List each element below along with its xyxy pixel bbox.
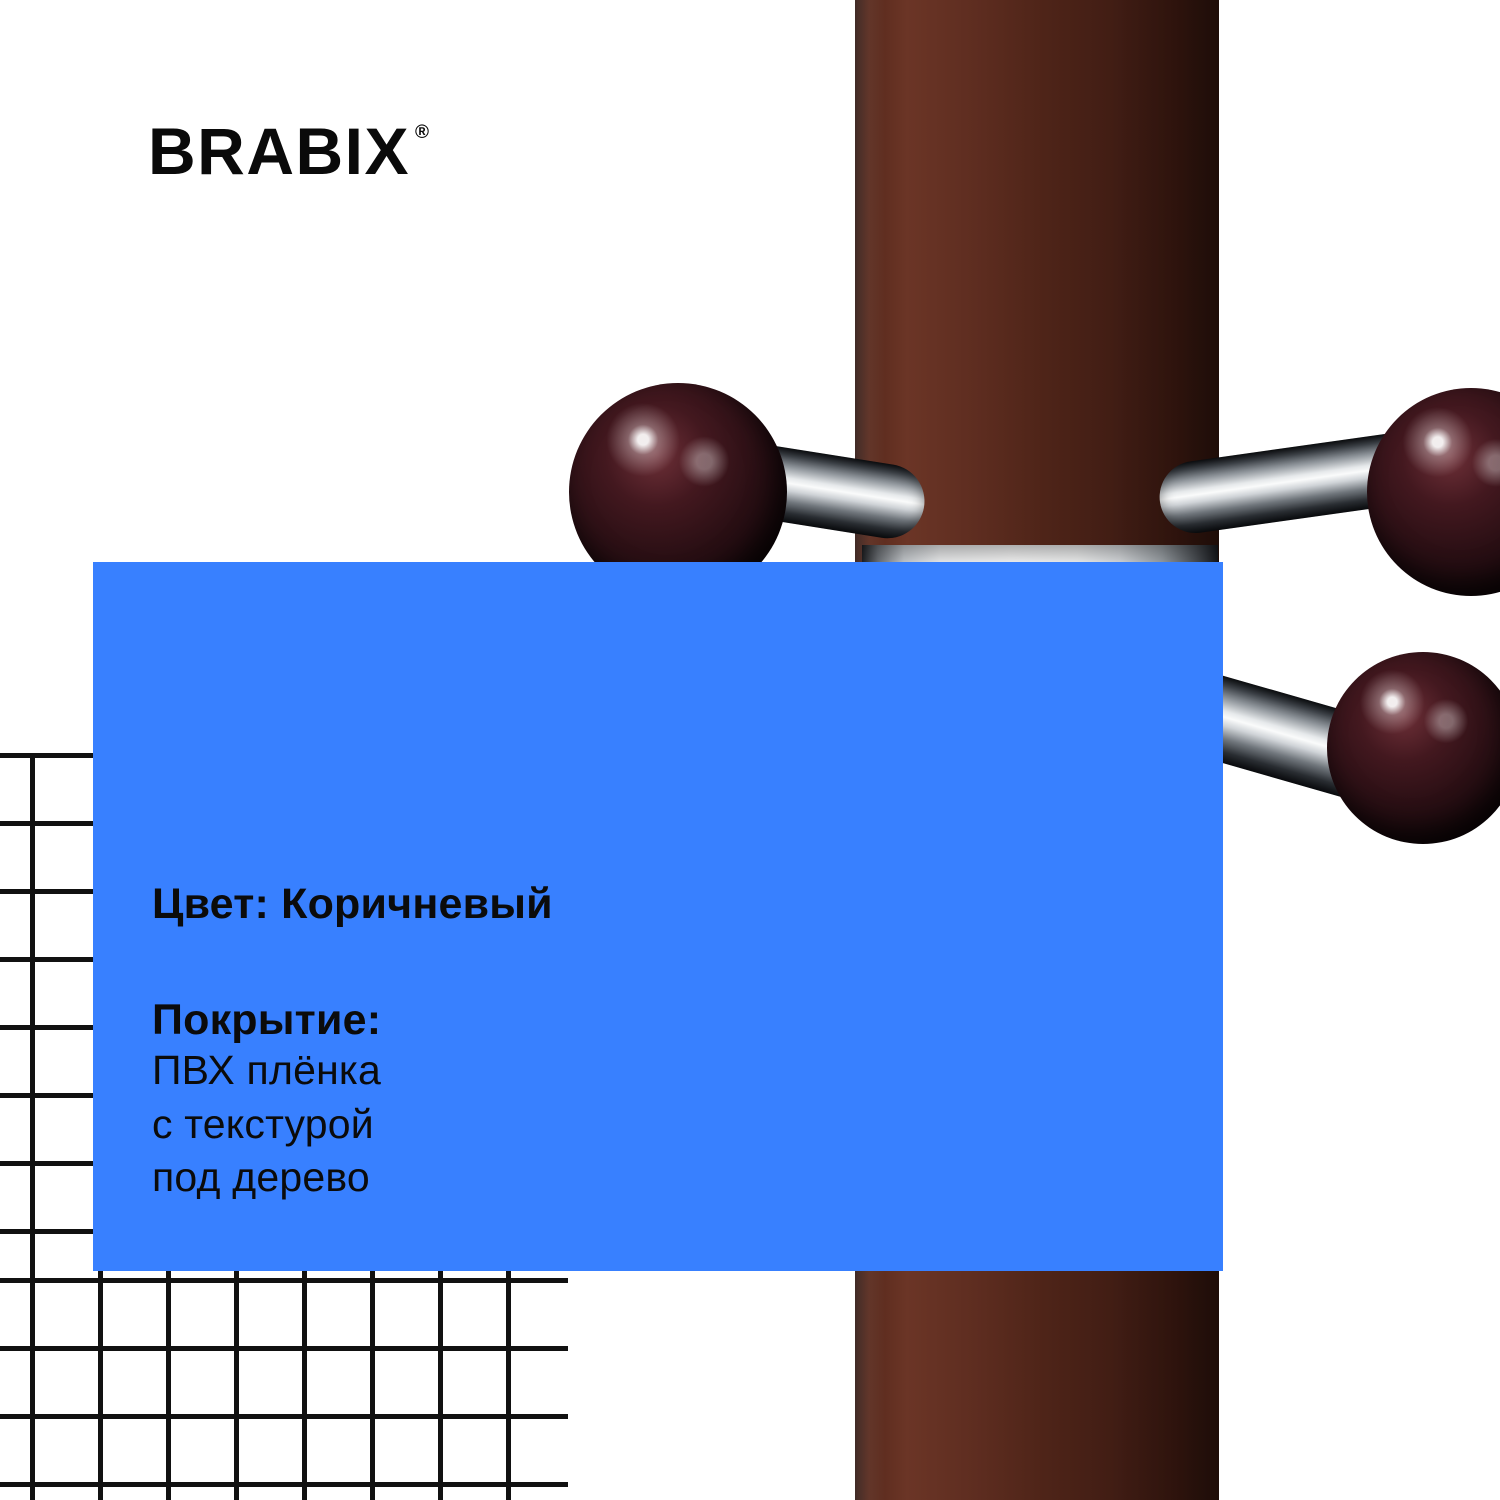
registered-trademark-icon: ®: [415, 123, 429, 142]
hook-knob-upper-right: [1367, 388, 1500, 596]
coating-line-1: ПВХ плёнка: [152, 1044, 712, 1097]
product-marketing-card: BRABIX ® Цвет: Коричневый Покрытие: ПВХ …: [0, 0, 1500, 1500]
coating-heading: Покрытие:: [152, 996, 712, 1044]
decorative-grid-lower: [0, 1278, 568, 1500]
coating-line-3: под дерево: [152, 1151, 712, 1204]
coating-line-2: с текстурой: [152, 1098, 712, 1151]
color-spec-line: Цвет: Коричневый: [152, 880, 712, 928]
brand-wordmark: BRABIX: [148, 118, 410, 184]
specification-text-block: Цвет: Коричневый Покрытие: ПВХ плёнка с …: [152, 880, 712, 1204]
coating-spec-group: Покрытие: ПВХ плёнка с текстурой под дер…: [152, 996, 712, 1204]
hook-knob-lower-right: [1327, 652, 1500, 844]
brand-logo: BRABIX ®: [148, 118, 429, 184]
